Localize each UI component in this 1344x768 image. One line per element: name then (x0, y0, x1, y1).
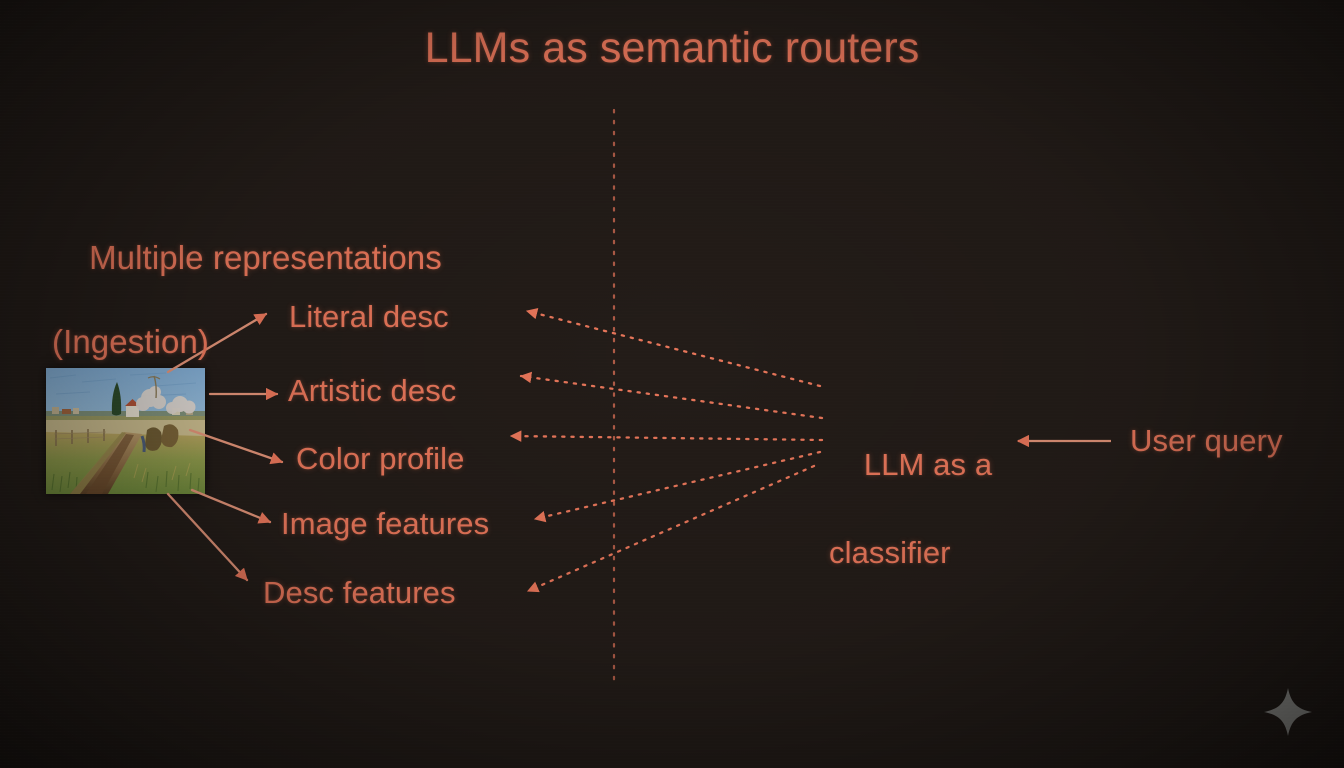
representation-label-artistic-desc: Artistic desc (288, 373, 456, 409)
classifier-line-2: classifier (829, 531, 992, 575)
arrow-classifier-to-desc-features (528, 466, 814, 591)
heading-line-1: Multiple representations (89, 239, 442, 276)
sparkle-icon (1262, 686, 1314, 738)
arrow-image-to-image-features (192, 490, 270, 522)
arrow-classifier-to-image-features (535, 452, 820, 519)
arrow-classifier-to-artistic-desc (521, 376, 822, 418)
user-query-label: User query (1130, 423, 1283, 459)
arrow-classifier-to-literal-desc (527, 311, 820, 386)
arrow-classifier-to-color-profile (511, 436, 822, 440)
representation-label-image-features: Image features (281, 506, 489, 542)
representation-label-color-profile: Color profile (296, 441, 464, 477)
llm-classifier-node: LLM as a classifier (829, 399, 992, 663)
page-title: LLMs as semantic routers (0, 24, 1344, 73)
representation-label-literal-desc: Literal desc (289, 299, 449, 335)
slide-canvas: LLMs as semantic routers Multiple repres… (0, 0, 1344, 768)
representation-label-desc-features: Desc features (263, 575, 456, 611)
arrow-image-to-desc-features (168, 494, 247, 580)
classifier-line-1: LLM as a (864, 447, 992, 482)
